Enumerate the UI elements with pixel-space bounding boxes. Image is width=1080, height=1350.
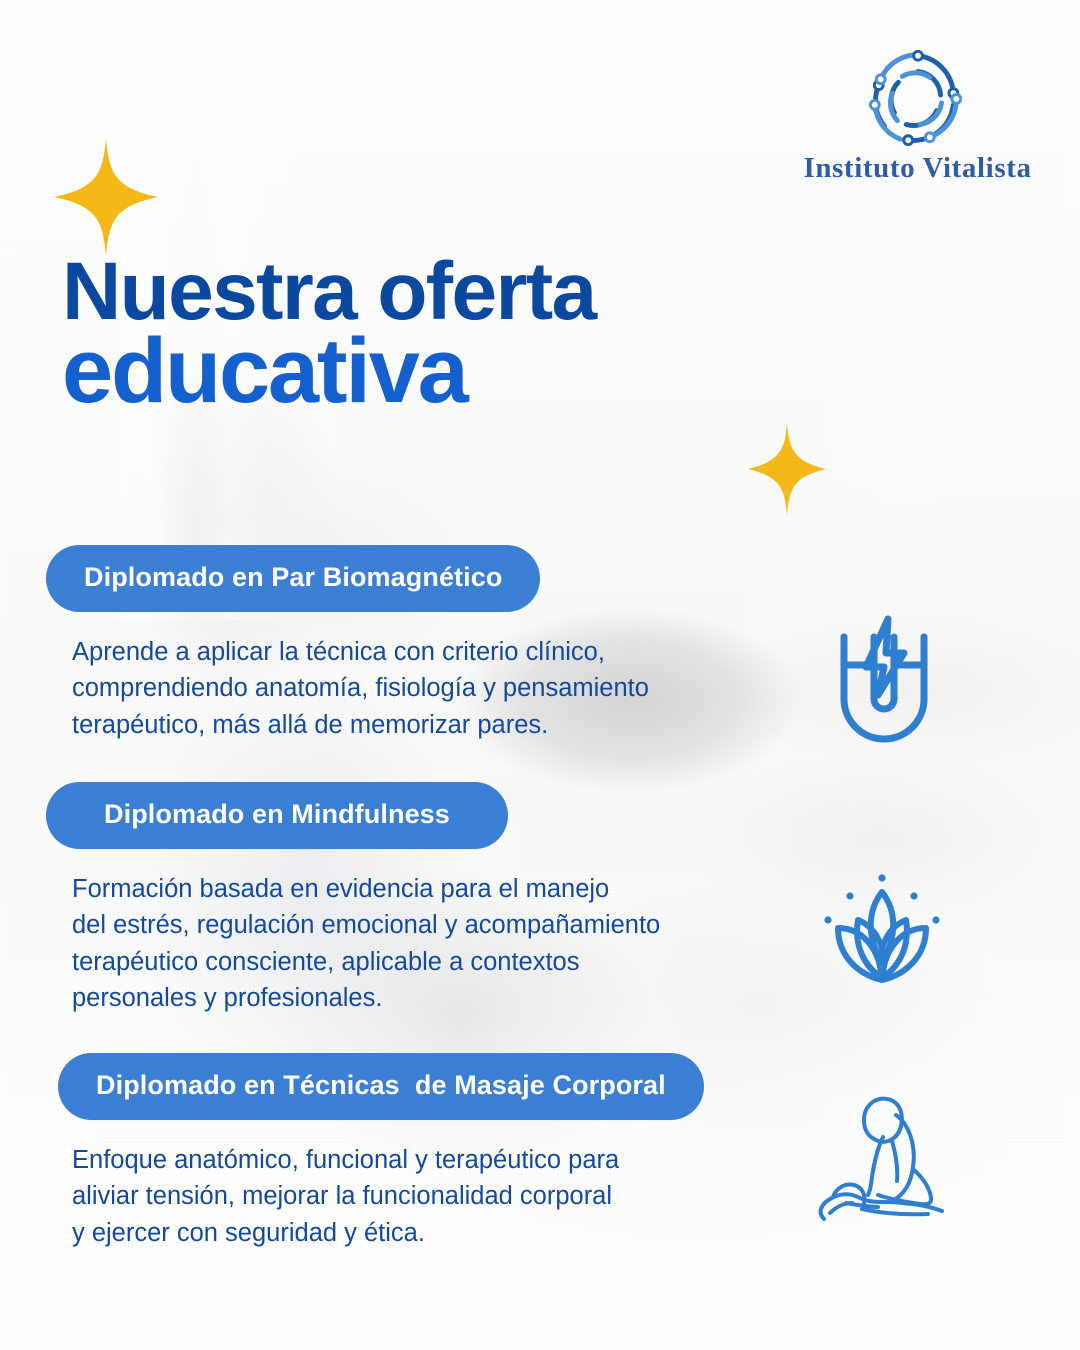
program-1-badge[interactable]: Diplomado en Par Biomagnético — [46, 545, 540, 612]
sparkle-mid-right-icon — [746, 421, 828, 517]
page-title-line2: educativa — [62, 328, 822, 415]
massage-therapy-icon — [800, 1085, 980, 1240]
horseshoe-magnet-bolt-icon — [818, 613, 950, 753]
program-3-description: Enfoque anatómico, funcional y terapéuti… — [72, 1142, 772, 1251]
page-title: Nuestra oferta educativa — [62, 253, 822, 415]
program-2-badge[interactable]: Diplomado en Mindfulness — [46, 782, 508, 849]
poster-canvas: Instituto Vitalista Nuestra oferta educa… — [0, 0, 1080, 1350]
brand-wordmark: Instituto Vitalista — [795, 152, 1040, 185]
program-3-badge[interactable]: Diplomado en Técnicas de Masaje Corporal — [58, 1053, 704, 1120]
brand-logo: Instituto Vitalista — [795, 42, 1040, 192]
program-1-badge-wrap: Diplomado en Par Biomagnético — [0, 545, 1080, 612]
sparkle-top-left-icon — [52, 136, 160, 258]
swirl-circuit-logo-icon — [859, 42, 977, 150]
program-2-badge-wrap: Diplomado en Mindfulness — [0, 782, 1080, 849]
program-2-description: Formación basada en evidencia para el ma… — [72, 871, 772, 1017]
page-title-line1: Nuestra oferta — [62, 253, 822, 330]
lotus-flower-icon — [806, 862, 958, 1002]
program-1-description: Aprende a aplicar la técnica con criteri… — [72, 634, 772, 743]
